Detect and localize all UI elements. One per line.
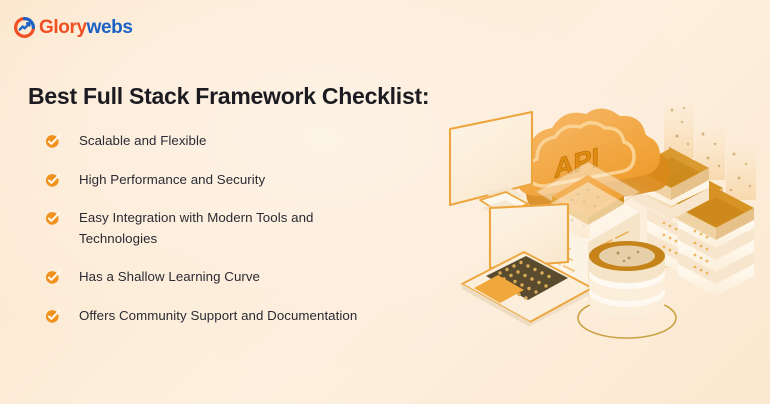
check-circle-icon [44,307,62,325]
list-item: Easy Integration with Modern Tools and T… [44,208,444,249]
list-item-label: Scalable and Flexible [79,131,206,152]
list-item: Has a Shallow Learning Curve [44,267,444,288]
poster-canvas: Glorywebs Best Full Stack Framework Chec… [0,0,770,404]
check-circle-icon [44,171,62,189]
list-item: High Performance and Security [44,170,444,191]
list-item: Scalable and Flexible [44,131,444,152]
list-item-label: Offers Community Support and Documentati… [79,306,357,327]
glorywebs-swirl-icon [14,17,35,38]
list-item-label: High Performance and Security [79,170,265,191]
brand-logo[interactable]: Glorywebs [14,15,133,39]
brand-name-primary: Glory [39,17,87,38]
list-item-label: Easy Integration with Modern Tools and T… [79,208,357,249]
database-cylinder [578,241,676,338]
checklist: Scalable and Flexible High Performance a… [44,131,444,345]
brand-name-secondary: webs [87,17,133,38]
check-circle-icon [44,268,62,286]
check-circle-icon [44,209,62,227]
full-stack-architecture-illustration: API [432,96,770,346]
desktop-monitor [450,112,532,220]
check-circle-icon [44,132,62,150]
page-title: Best Full Stack Framework Checklist: [28,83,429,110]
list-item-label: Has a Shallow Learning Curve [79,267,260,288]
list-item: Offers Community Support and Documentati… [44,306,444,327]
brand-wordmark: Glorywebs [39,18,133,37]
